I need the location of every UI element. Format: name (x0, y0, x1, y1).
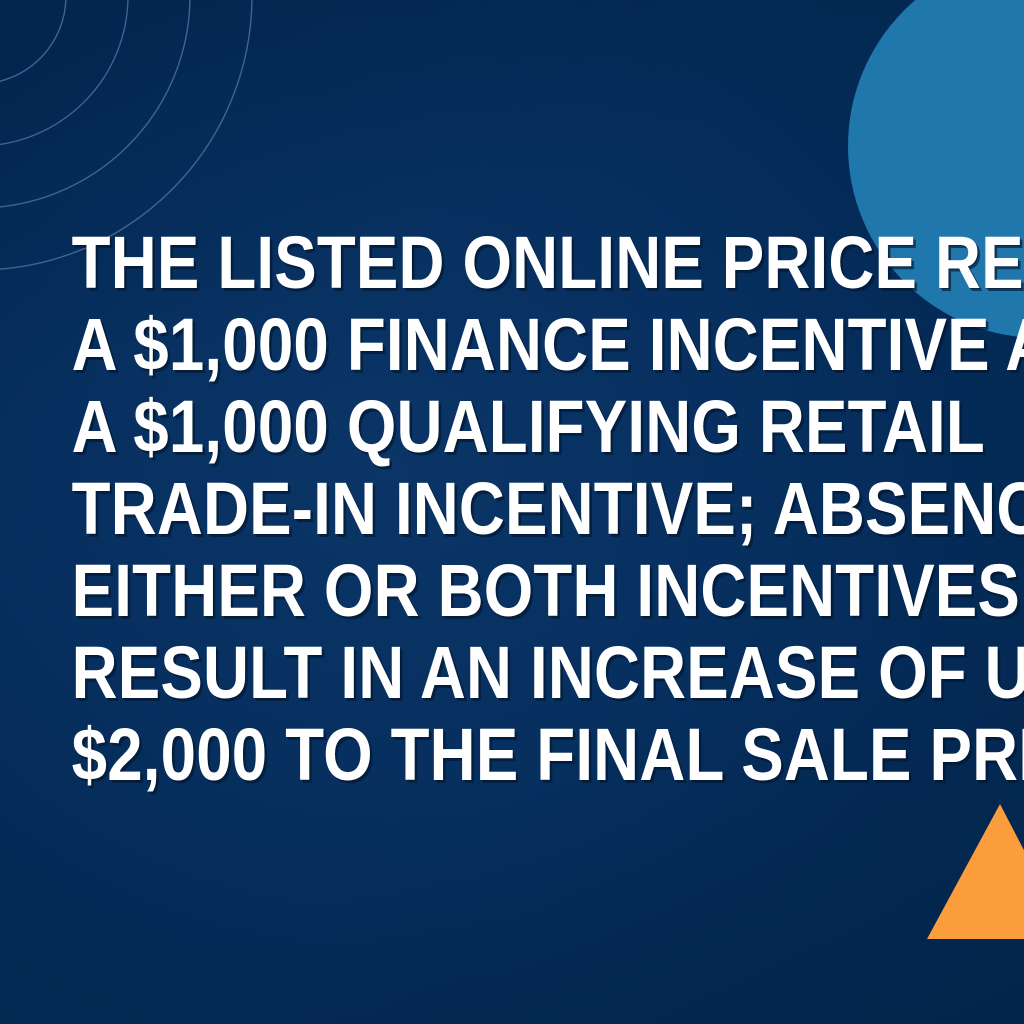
headline-line-1: THE LISTED ONLINE PRICE REFLECTS (72, 222, 953, 304)
disclaimer-headline: THE LISTED ONLINE PRICE REFLECTS A $1,00… (0, 222, 1024, 796)
headline-line-5: EITHER OR BOTH INCENTIVES WILL (72, 550, 953, 632)
headline-line-2: A $1,000 FINANCE INCENTIVE AND (72, 304, 953, 386)
headline-line-7: $2,000 TO THE FINAL SALE PRICE. (72, 714, 953, 796)
promo-graphic-canvas: THE LISTED ONLINE PRICE REFLECTS A $1,00… (0, 0, 1024, 1024)
headline-line-6: RESULT IN AN INCREASE OF UP TO (72, 632, 953, 714)
headline-line-3: A $1,000 QUALIFYING RETAIL (72, 386, 953, 468)
headline-line-4: TRADE-IN INCENTIVE; ABSENCE OF (72, 468, 953, 550)
